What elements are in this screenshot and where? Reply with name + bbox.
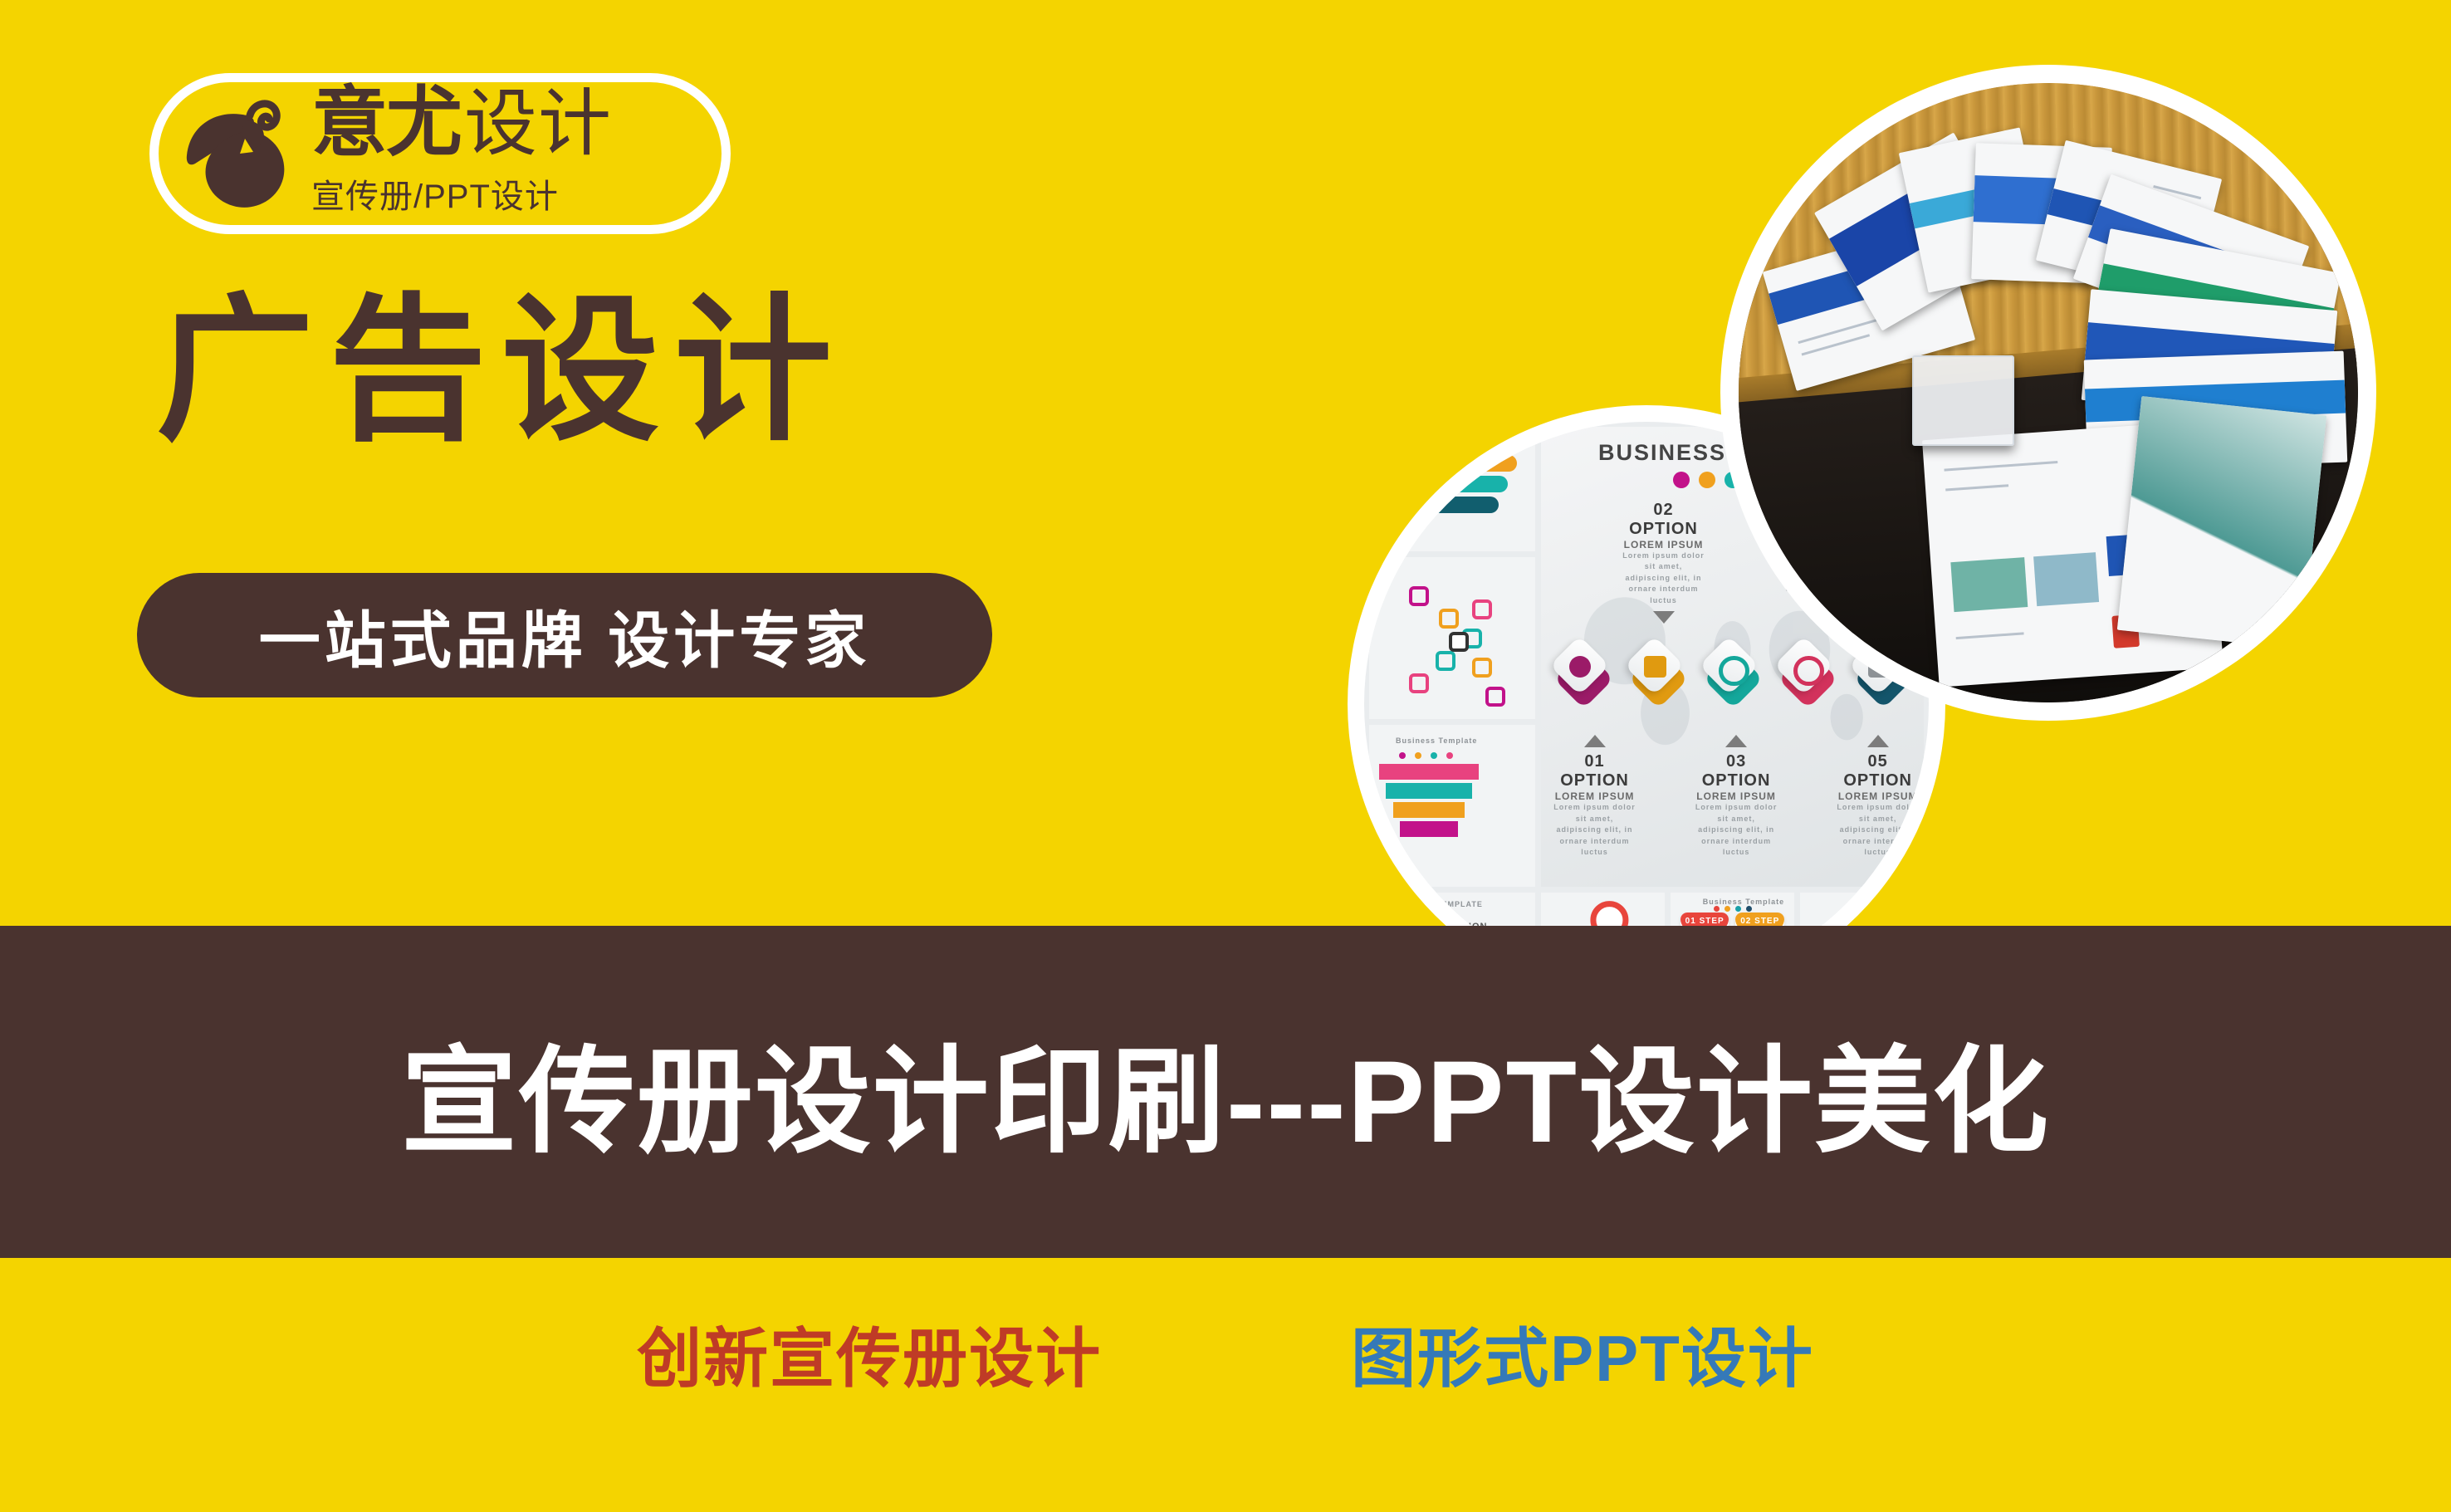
brochure-photo-circle xyxy=(1720,65,2376,721)
funnel-pyramid-thumb: Business Template xyxy=(1369,725,1535,887)
logo-brand-bold: 意尤 xyxy=(311,85,461,161)
service-tag-row: 创新宣传册设计 图形式PPT设计 xyxy=(0,1270,2451,1436)
tagline-text: 一站式品牌 设计专家 xyxy=(259,591,871,680)
page-title: 广告设计 xyxy=(156,292,847,450)
rocket-icon xyxy=(1644,656,1666,678)
node-network-thumb xyxy=(1369,557,1535,719)
service-tag-ppt[interactable]: 图形式PPT设计 xyxy=(1351,1307,1814,1400)
headline-band: 宣传册设计印刷---PPT设计美化 xyxy=(0,926,2451,1258)
logo-subtitle: 宣传册/PPT设计 xyxy=(311,169,612,218)
option-label-03: 03 OPTION LOREM IPSUM Lorem ipsum dolor … xyxy=(1694,735,1778,859)
headline-band-text: 宣传册设计印刷---PPT设计美化 xyxy=(401,1008,2050,1176)
brand-logo[interactable]: 意尤 设计 宣传册/PPT设计 xyxy=(149,73,731,234)
colored-bar-list-thumb xyxy=(1369,427,1535,551)
service-tag-brochure[interactable]: 创新宣传册设计 xyxy=(637,1307,1102,1400)
sprouting-seed-bird-mark-icon xyxy=(170,87,303,220)
advertising-banner: 意尤 设计 宣传册/PPT设计 广告设计 一站式品牌 设计专家 xyxy=(0,0,2451,1512)
option-label-01: 01 OPTION LOREM IPSUM Lorem ipsum dolor … xyxy=(1553,735,1636,859)
tagline-pill: 一站式品牌 设计专家 xyxy=(137,573,992,697)
diamond-01 xyxy=(1556,644,1609,697)
logo-brand-light: 设计 xyxy=(464,87,612,160)
option-label-02: 02 OPTION LOREM IPSUM Lorem ipsum dolor … xyxy=(1622,501,1705,624)
brochure-photo xyxy=(1739,83,2358,702)
diamond-02 xyxy=(1632,644,1685,697)
option-label-05: 05 OPTION LOREM IPSUM Lorem ipsum dolor … xyxy=(1836,735,1920,859)
